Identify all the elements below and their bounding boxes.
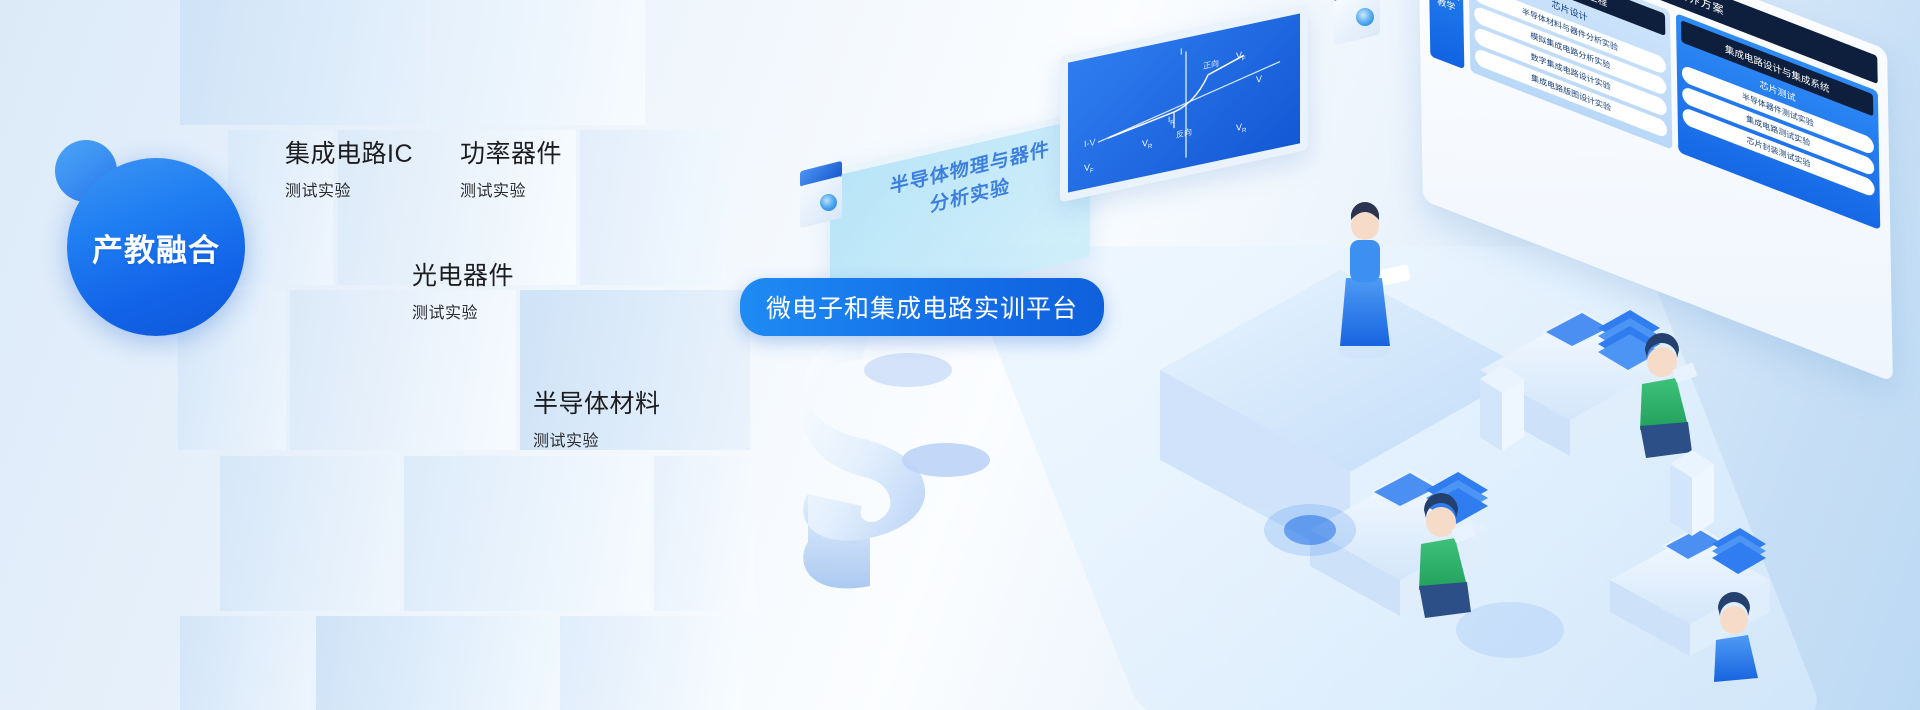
bg-tile [316, 616, 556, 710]
feature-item-power: 功率器件 测试实验 [460, 140, 562, 201]
board-side-label: 专业基础实具教学 [1428, 0, 1464, 69]
camera-lens [820, 194, 837, 211]
isometric-lab-scene [1010, 160, 1910, 710]
bg-tile [654, 456, 754, 611]
bg-tile [430, 0, 645, 125]
feature-title: 集成电路IC [285, 140, 413, 169]
feature-title: 半导体材料 [533, 390, 661, 419]
iv-label-vr-right: VR [1236, 121, 1246, 136]
bg-tile [580, 130, 726, 285]
iv-label-vr-left: VR [1142, 137, 1152, 152]
promo-banner: 产教融合 集成电路IC 测试实验 功率器件 测试实验 光电器件 测试实验 半导体… [0, 0, 1920, 710]
feature-item-ic: 集成电路IC 测试实验 [285, 140, 413, 201]
camera-lens [1356, 8, 1374, 26]
feature-item-material: 半导体材料 测试实验 [533, 390, 661, 451]
brand-badge: 产教融合 [55, 140, 255, 330]
floor-glow-2 [1456, 602, 1564, 658]
bg-tile [180, 616, 310, 710]
feature-subtitle: 测试实验 [533, 427, 661, 451]
feature-subtitle: 测试实验 [460, 177, 562, 201]
feature-subtitle: 测试实验 [285, 177, 413, 201]
camera-icon [798, 166, 844, 224]
floor-glow-core [1284, 515, 1336, 545]
feature-title: 光电器件 [412, 262, 514, 291]
bg-tile [180, 0, 425, 125]
camera-icon-secondary [1332, 0, 1382, 40]
feature-item-optoelectronic: 光电器件 测试实验 [412, 262, 514, 323]
iv-axis-i: I [1180, 46, 1183, 57]
bg-tile [560, 616, 740, 710]
platform-title-label: 微电子和集成电路实训平台 [766, 295, 1078, 323]
lab-equipment-column-1 [1480, 365, 1524, 451]
board-column-microelectronics: 微电子科学与工程 芯片设计 半导体材料与器件分析实验 模拟集成电路分析实验 数字… [1468, 0, 1672, 150]
iv-axis-v: V [1256, 73, 1262, 84]
badge-circle: 产教融合 [67, 158, 245, 336]
illustration: 半导体物理与器件 分析实验 I-V I V 正向 反向 VF VR VR [760, 0, 1920, 710]
platform-title-pill[interactable]: 微电子和集成电路实训平台 [740, 278, 1104, 336]
lab-equipment-column-2 [1670, 450, 1714, 536]
badge-label: 产教融合 [92, 225, 220, 270]
iv-label-ir: IR [1168, 114, 1175, 127]
bg-tile [220, 456, 400, 611]
bg-tile [404, 456, 650, 611]
feature-subtitle: 测试实验 [412, 299, 514, 323]
feature-title: 功率器件 [460, 140, 562, 169]
iv-label-vf-top: VF [1236, 49, 1246, 64]
camera-body [1334, 0, 1380, 46]
